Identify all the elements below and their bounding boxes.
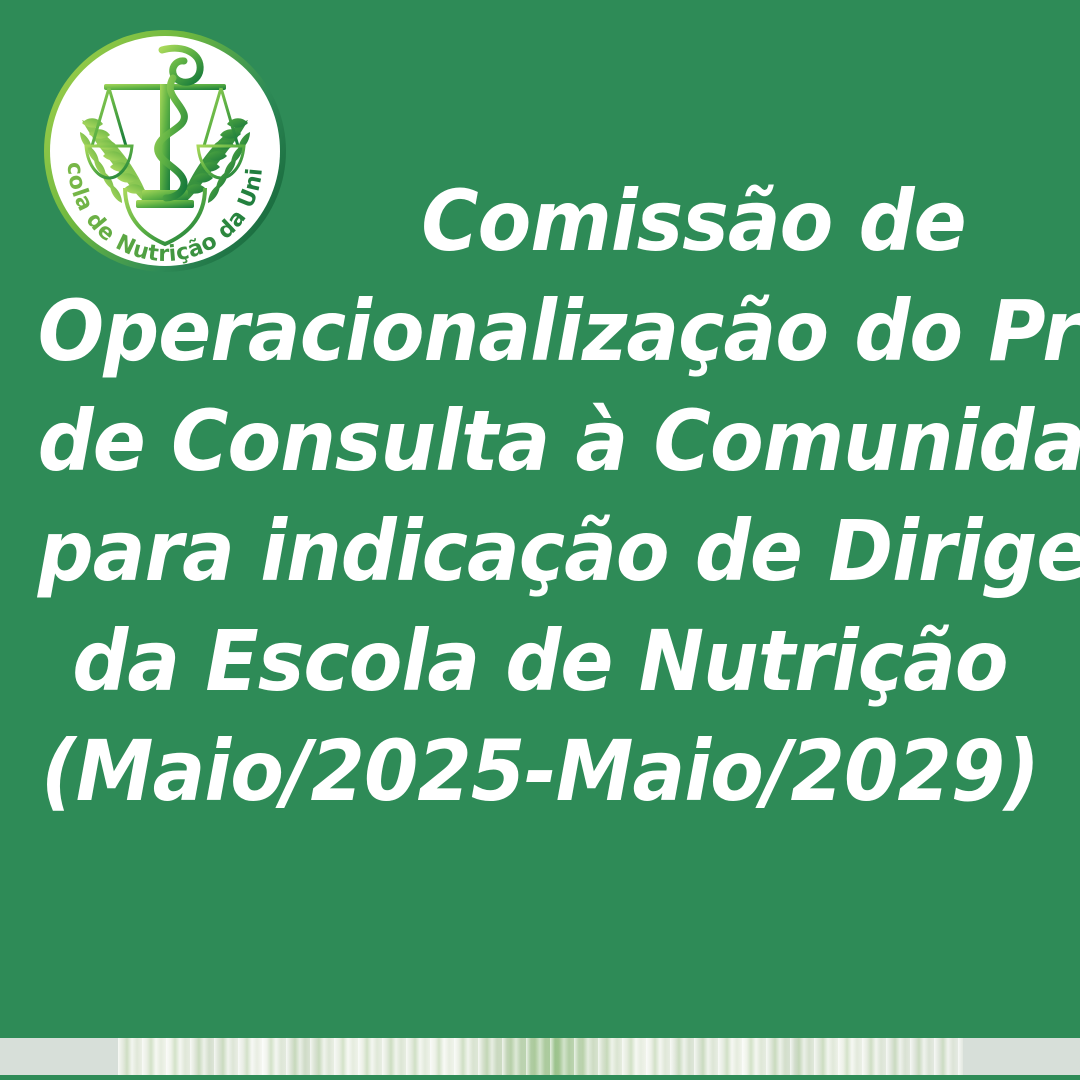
headline-line-3: de Consulta à Comunidade xyxy=(38,386,1042,496)
poster-headline: Comissão de Operacionalização do Process… xyxy=(0,166,1080,826)
poster-canvas: Escola de Nutrição da Unirio Comissão de… xyxy=(0,0,1080,1080)
footer-bottom-rule xyxy=(0,1075,1080,1080)
headline-line-5: da Escola de Nutrição xyxy=(38,606,1042,716)
headline-line-2: Operacionalização do Processo xyxy=(38,276,1042,386)
footer-strip-stripes xyxy=(118,1038,963,1075)
headline-line-4: para indicação de Dirigente xyxy=(38,496,1042,606)
headline-line-6: (Maio/2025-Maio/2029) xyxy=(38,716,1042,826)
headline-line-1: Comissão de xyxy=(38,166,1042,276)
